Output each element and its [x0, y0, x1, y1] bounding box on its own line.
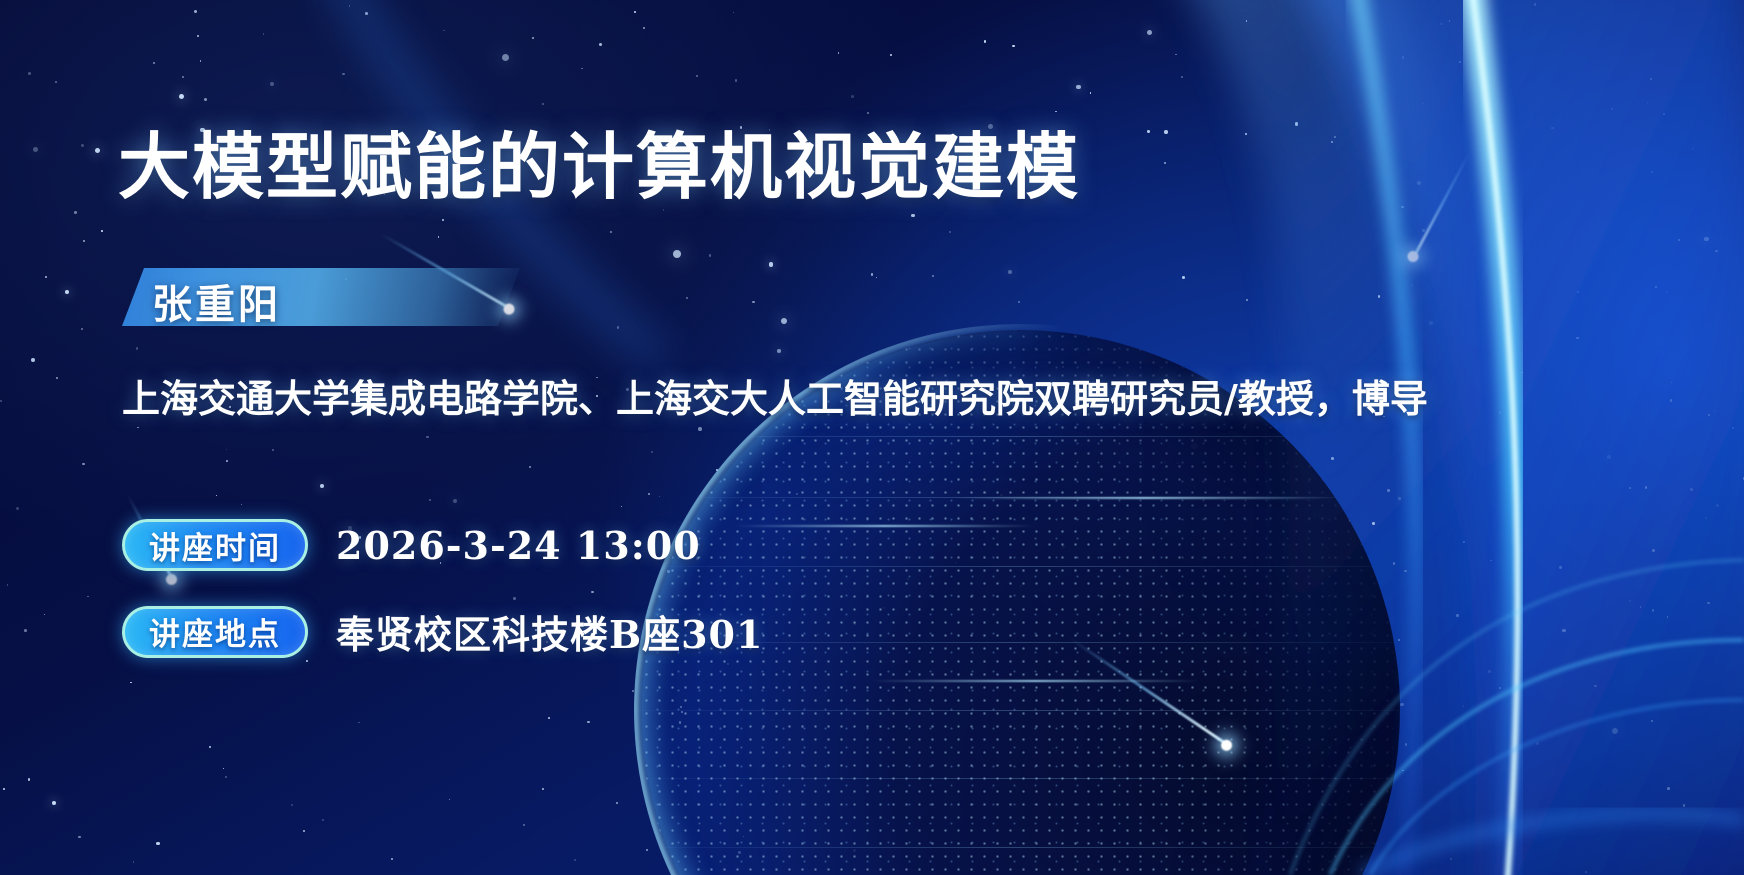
- star: [983, 491, 987, 495]
- star: [1008, 270, 1012, 274]
- star: [438, 236, 439, 237]
- lecture-time-value: 2026-3-24 13:00: [336, 523, 701, 568]
- star: [1705, 517, 1706, 518]
- star: [648, 493, 651, 496]
- star: [709, 254, 712, 257]
- ribbon-backdrop: [1290, 0, 1744, 875]
- star: [616, 802, 618, 804]
- star: [130, 682, 132, 684]
- star: [1405, 743, 1408, 746]
- globe-latitude-line: [640, 436, 1400, 437]
- star: [3, 788, 5, 790]
- star: [752, 301, 754, 303]
- star: [1667, 616, 1669, 618]
- star: [1594, 685, 1597, 688]
- star: [1331, 141, 1333, 143]
- star: [681, 711, 684, 714]
- star: [1629, 600, 1631, 602]
- star: [1371, 618, 1373, 620]
- star: [1690, 488, 1693, 491]
- comet-icon: [1069, 637, 1228, 746]
- star: [209, 746, 212, 749]
- star: [1393, 562, 1395, 564]
- star: [1331, 457, 1334, 460]
- star: [1401, 206, 1403, 208]
- star: [449, 799, 451, 801]
- ribbon-arc-3: [1290, 560, 1744, 875]
- star: [7, 584, 9, 586]
- star: [391, 858, 393, 860]
- star: [225, 776, 227, 778]
- star: [1052, 747, 1054, 749]
- star: [890, 54, 893, 57]
- star: [1449, 20, 1451, 22]
- star: [838, 52, 840, 54]
- star: [226, 449, 227, 450]
- star: [796, 493, 798, 495]
- star: [587, 721, 590, 724]
- star: [1521, 372, 1522, 373]
- star: [1692, 148, 1694, 150]
- star: [907, 578, 909, 580]
- star: [1670, 399, 1673, 402]
- ribbon-second: [1352, 0, 1416, 875]
- star: [1343, 869, 1349, 875]
- star: [1716, 504, 1719, 507]
- star: [1398, 497, 1401, 500]
- star: [1666, 291, 1668, 293]
- star: [1081, 444, 1083, 446]
- star: [95, 148, 100, 153]
- star: [1683, 804, 1686, 807]
- lecture-location-value: 奉贤校区科技楼B座301: [336, 604, 763, 659]
- star: [1301, 808, 1304, 811]
- star: [777, 349, 781, 353]
- star: [0, 400, 2, 402]
- star: [1112, 362, 1114, 364]
- star: [1164, 461, 1166, 463]
- comet-icon-4: [1412, 151, 1471, 258]
- star: [45, 276, 47, 278]
- star: [342, 73, 345, 76]
- star: [1479, 149, 1481, 151]
- star: [453, 499, 457, 503]
- star: [870, 489, 871, 490]
- star: [1671, 382, 1673, 384]
- star: [513, 597, 516, 600]
- star: [680, 706, 683, 709]
- ribbon-arc-1: [1330, 640, 1744, 875]
- star: [1663, 113, 1665, 115]
- star: [28, 72, 31, 75]
- star: [1076, 85, 1081, 90]
- star: [1313, 514, 1315, 516]
- star: [182, 76, 184, 78]
- star: [216, 495, 217, 496]
- star: [1651, 720, 1653, 722]
- star: [946, 668, 948, 670]
- star: [1191, 443, 1197, 449]
- star: [365, 12, 368, 15]
- star: [291, 804, 293, 806]
- star: [1147, 30, 1152, 35]
- light-streak-3: [870, 680, 1200, 682]
- star: [1045, 601, 1047, 603]
- star: [1136, 784, 1138, 786]
- lecture-time-label: 讲座时间: [149, 523, 281, 568]
- light-beam: [1160, 0, 1486, 875]
- star: [1640, 606, 1642, 608]
- star: [1559, 566, 1562, 569]
- star: [1090, 92, 1092, 94]
- star: [56, 377, 59, 380]
- star: [851, 95, 854, 98]
- star: [1536, 742, 1539, 745]
- star: [136, 347, 139, 350]
- lecture-location-label: 讲座地点: [149, 609, 281, 654]
- star: [634, 11, 636, 13]
- star: [1732, 427, 1734, 429]
- star: [133, 861, 135, 863]
- star: [1228, 535, 1230, 537]
- star: [1355, 760, 1358, 763]
- star: [1629, 487, 1631, 489]
- star: [44, 614, 45, 615]
- light-streak-1: [735, 525, 1035, 527]
- star: [738, 851, 741, 854]
- star: [1707, 602, 1709, 604]
- star: [1662, 351, 1664, 353]
- star: [548, 717, 550, 719]
- lecture-location-row: 讲座地点 奉贤校区科技楼B座301: [122, 604, 763, 659]
- star: [1156, 584, 1159, 587]
- star: [1175, 54, 1176, 55]
- star: [673, 250, 681, 258]
- ribbon-main-glow: [1468, 0, 1518, 875]
- star: [1652, 609, 1654, 611]
- star: [349, 5, 351, 7]
- star: [686, 297, 688, 299]
- star: [542, 788, 544, 790]
- star: [1295, 122, 1299, 126]
- star: [429, 499, 431, 501]
- star: [1607, 455, 1611, 459]
- star: [81, 328, 83, 330]
- star: [322, 819, 325, 822]
- star: [442, 219, 444, 221]
- star: [696, 75, 698, 77]
- star: [1245, 133, 1247, 135]
- star: [1181, 76, 1184, 79]
- star: [1209, 568, 1211, 570]
- star: [1490, 560, 1492, 562]
- star: [991, 787, 994, 790]
- star: [55, 81, 57, 83]
- star: [194, 10, 197, 13]
- star: [1254, 779, 1258, 783]
- star: [1611, 108, 1613, 110]
- star: [1194, 486, 1195, 487]
- star: [270, 82, 275, 87]
- star: [1650, 78, 1652, 80]
- star: [24, 629, 27, 632]
- star: [853, 849, 856, 852]
- light-streak-2: [955, 497, 1335, 499]
- star: [263, 33, 265, 35]
- star: [1387, 489, 1391, 493]
- star: [1348, 587, 1350, 589]
- star: [919, 819, 921, 821]
- star: [871, 273, 874, 276]
- star: [303, 830, 305, 832]
- star: [1334, 802, 1336, 804]
- globe-latitude-line: [640, 566, 1400, 567]
- star: [306, 660, 308, 662]
- star: [646, 849, 648, 851]
- star: [197, 35, 200, 38]
- star: [204, 98, 207, 101]
- star: [1170, 720, 1172, 722]
- star: [1463, 541, 1466, 544]
- star: [779, 467, 781, 469]
- star: [443, 30, 445, 32]
- star: [31, 358, 35, 362]
- star: [781, 318, 787, 324]
- star: [651, 451, 653, 453]
- star: [156, 842, 159, 845]
- star: [226, 460, 228, 462]
- ribbon-arc-4: [1360, 814, 1744, 875]
- star: [1551, 127, 1554, 130]
- star: [1164, 130, 1168, 134]
- star: [1562, 629, 1566, 633]
- star: [28, 778, 31, 781]
- star: [1334, 136, 1336, 138]
- star: [1253, 625, 1255, 627]
- star: [1378, 295, 1381, 298]
- star: [87, 596, 89, 598]
- star: [1300, 686, 1302, 688]
- star: [659, 496, 661, 498]
- star: [769, 262, 773, 266]
- globe-latitude-line: [640, 778, 1400, 779]
- star: [743, 836, 745, 838]
- star: [1373, 630, 1375, 632]
- star: [1402, 770, 1404, 772]
- star: [1246, 20, 1248, 22]
- star: [1678, 239, 1680, 241]
- star: [1585, 871, 1587, 873]
- globe-latitude-line: [640, 847, 1400, 848]
- star: [1429, 321, 1434, 326]
- star: [1246, 299, 1248, 301]
- lecture-poster: 大模型赋能的计算机视觉建模 张重阳 上海交通大学集成电路学院、上海交大人工智能研…: [0, 0, 1744, 875]
- star: [949, 231, 951, 233]
- star: [955, 562, 957, 564]
- speaker-affiliation: 上海交通大学集成电路学院、上海交大人工智能研究院双聘研究员/教授，博导: [122, 368, 1428, 423]
- page-title: 大模型赋能的计算机视觉建模: [118, 108, 1080, 213]
- star: [1459, 61, 1461, 63]
- star: [1652, 549, 1655, 552]
- star: [1576, 337, 1579, 340]
- star: [1160, 629, 1162, 631]
- star: [1164, 162, 1166, 164]
- star: [617, 326, 620, 329]
- star: [1488, 670, 1491, 673]
- star: [1499, 411, 1502, 414]
- lecture-time-label-pill: 讲座时间: [122, 519, 308, 571]
- star: [1655, 286, 1657, 288]
- star: [529, 466, 531, 468]
- star: [1456, 614, 1459, 617]
- star: [33, 147, 39, 153]
- globe-latitude-line: [640, 710, 1400, 711]
- star: [1499, 687, 1501, 689]
- star: [581, 68, 582, 69]
- star: [883, 607, 885, 609]
- star: [542, 103, 544, 105]
- star: [1612, 728, 1618, 734]
- star: [153, 62, 155, 64]
- star: [1440, 23, 1443, 26]
- star: [1095, 825, 1097, 827]
- speaker-name: 张重阳: [152, 272, 281, 330]
- star: [223, 768, 225, 770]
- ribbon-main-core: [1468, 0, 1518, 875]
- star: [1645, 486, 1648, 489]
- star: [137, 427, 139, 429]
- star: [1398, 639, 1400, 641]
- star: [1348, 520, 1351, 523]
- star: [1229, 783, 1233, 787]
- star: [1018, 301, 1020, 303]
- star: [574, 859, 576, 861]
- star: [1201, 591, 1204, 594]
- star: [1013, 45, 1015, 47]
- star: [1585, 300, 1586, 301]
- star: [1422, 103, 1424, 105]
- star: [52, 801, 56, 805]
- star: [1243, 425, 1246, 428]
- star: [733, 12, 735, 14]
- star: [984, 40, 987, 43]
- star: [1402, 56, 1405, 59]
- star: [1411, 284, 1413, 286]
- star: [320, 484, 324, 488]
- star: [1062, 545, 1065, 548]
- star: [1372, 522, 1375, 525]
- star: [911, 214, 915, 218]
- star: [1176, 462, 1179, 465]
- star: [358, 722, 360, 724]
- star: [1708, 414, 1710, 416]
- star: [1704, 237, 1709, 242]
- star: [78, 836, 80, 838]
- star: [1012, 45, 1015, 48]
- star: [876, 277, 878, 279]
- star: [502, 54, 509, 61]
- star: [698, 427, 702, 431]
- star: [854, 622, 857, 625]
- star: [1422, 229, 1425, 232]
- star: [1020, 585, 1022, 587]
- star: [1667, 787, 1670, 790]
- star: [817, 633, 819, 635]
- star: [83, 240, 86, 243]
- star: [679, 721, 682, 724]
- star: [1463, 705, 1465, 707]
- star: [81, 144, 84, 147]
- star: [716, 469, 718, 471]
- star: [621, 506, 623, 508]
- star: [1147, 130, 1150, 133]
- ribbon-arc-2: [1370, 700, 1744, 875]
- star: [610, 231, 613, 234]
- star: [16, 507, 19, 510]
- star: [643, 27, 645, 29]
- star: [1182, 276, 1185, 279]
- star: [1325, 609, 1327, 611]
- star: [1534, 3, 1537, 6]
- star: [1577, 291, 1579, 293]
- star: [532, 37, 534, 39]
- star: [65, 290, 69, 294]
- star: [426, 436, 429, 439]
- star: [1400, 703, 1403, 706]
- star: [82, 463, 85, 466]
- star: [1404, 570, 1407, 573]
- star: [1651, 171, 1654, 174]
- star: [179, 94, 184, 99]
- star: [1417, 181, 1421, 185]
- star: [1450, 858, 1452, 860]
- star: [735, 79, 737, 81]
- lecture-location-label-pill: 讲座地点: [122, 606, 308, 658]
- star: [101, 230, 103, 232]
- lecture-time-row: 讲座时间 2026-3-24 13:00: [122, 519, 701, 571]
- star: [241, 504, 243, 506]
- star: [74, 211, 77, 214]
- star: [1390, 636, 1392, 638]
- star: [727, 663, 729, 665]
- star: [932, 275, 934, 277]
- star: [1647, 102, 1649, 104]
- star: [591, 591, 594, 594]
- star: [523, 824, 525, 826]
- star: [272, 449, 275, 452]
- star: [1715, 250, 1718, 253]
- star: [599, 43, 602, 46]
- star: [632, 690, 634, 692]
- star: [200, 60, 202, 62]
- star: [1714, 410, 1716, 412]
